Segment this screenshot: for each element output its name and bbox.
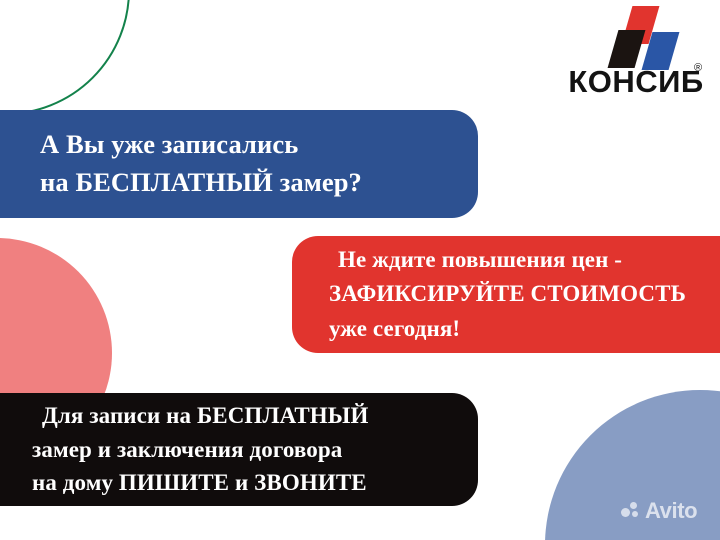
- headline-blue-line-1: А Вы уже записались: [40, 126, 478, 164]
- offer-panel-red: Не ждите повышения цен - ЗАФИКСИРУЙТЕ СТ…: [292, 236, 720, 353]
- cta-black-line-1: Для записи на БЕСПЛАТНЫЙ: [32, 399, 478, 433]
- offer-red-line-1: Не ждите повышения цен -: [329, 243, 720, 277]
- avito-watermark: Avito: [621, 498, 697, 524]
- headline-blue-line-2: на БЕСПЛАТНЫЙ замер?: [40, 164, 478, 202]
- cta-black-line-3: на дому ПИШИТЕ и ЗВОНИТЕ: [32, 466, 478, 500]
- konsib-logo: КОНСИБ ®: [561, 6, 711, 106]
- offer-red-line-3: уже сегодня!: [329, 312, 720, 346]
- cta-panel-black: Для записи на БЕСПЛАТНЫЙ замер и заключе…: [0, 393, 478, 506]
- logo-black-tile-icon: [608, 30, 646, 68]
- logo-wordmark: КОНСИБ: [561, 64, 711, 100]
- registered-trademark-icon: ®: [694, 62, 702, 74]
- offer-red-line-2: ЗАФИКСИРУЙТЕ СТОИМОСТЬ: [329, 277, 720, 311]
- promo-banner: КОНСИБ ® А Вы уже записались на БЕСПЛАТН…: [0, 0, 720, 540]
- cta-black-line-2: замер и заключения договора: [32, 433, 478, 467]
- green-ring-decoration: [0, 0, 130, 115]
- headline-panel-blue: А Вы уже записались на БЕСПЛАТНЫЙ замер?: [0, 110, 478, 218]
- avito-wordmark: Avito: [645, 498, 697, 524]
- logo-tiles-icon: [599, 6, 679, 64]
- avito-dots-icon: [621, 502, 640, 520]
